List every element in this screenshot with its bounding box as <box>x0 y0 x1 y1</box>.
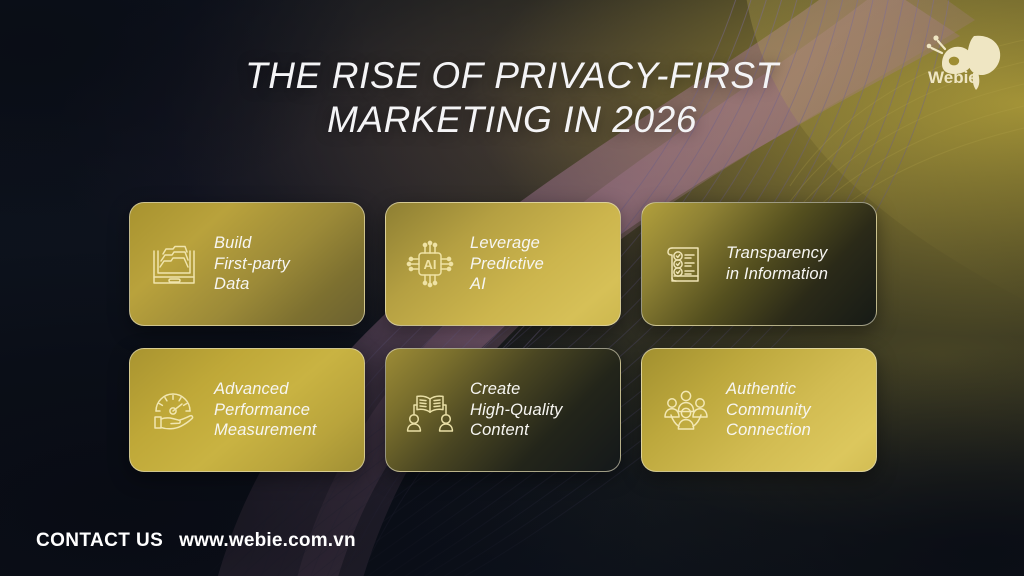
page-title: THE RISE OF PRIVACY-FIRST MARKETING IN 2… <box>0 54 1024 141</box>
card-line: Data <box>214 274 290 295</box>
feature-card-label: Advanced Performance Measurement <box>214 379 317 442</box>
feature-card-create-high-quality-content[interactable]: Create High-Quality Content <box>385 348 621 472</box>
people-group-icon <box>656 379 716 441</box>
feature-card-advanced-performance-measurement[interactable]: Advanced Performance Measurement <box>129 348 365 472</box>
feature-card-label: Authentic Community Connection <box>726 379 811 442</box>
svg-text:AI: AI <box>424 257 437 272</box>
feature-card-leverage-predictive-ai[interactable]: AI <box>385 202 621 326</box>
slide-canvas: Webie THE RISE OF PRIVACY-FIRST MARKETIN… <box>0 0 1024 576</box>
gauge-hand-icon <box>144 379 204 441</box>
card-line: AI <box>470 274 544 295</box>
card-line: Create <box>470 379 563 400</box>
file-drawer-icon <box>144 233 204 295</box>
card-line: First-party <box>214 254 290 275</box>
card-line: Community <box>726 400 811 421</box>
card-line: Predictive <box>470 254 544 275</box>
feature-card-transparency-in-information[interactable]: Transparency in Information <box>641 202 877 326</box>
book-people-icon <box>400 379 460 441</box>
card-line: Content <box>470 420 563 441</box>
contact-us-label: CONTACT US <box>36 530 163 552</box>
checklist-scroll-icon <box>656 233 716 295</box>
card-line: Transparency <box>726 243 828 264</box>
card-line: Connection <box>726 420 811 441</box>
card-line: Measurement <box>214 420 317 441</box>
card-line: High-Quality <box>470 400 563 421</box>
ai-chip-icon: AI <box>400 233 460 295</box>
feature-card-label: Transparency in Information <box>726 243 828 285</box>
website-url[interactable]: www.webie.com.vn <box>179 530 356 552</box>
feature-card-build-first-party-data[interactable]: Build First-party Data <box>129 202 365 326</box>
feature-card-label: Build First-party Data <box>214 233 290 296</box>
card-line: Authentic <box>726 379 811 400</box>
feature-card-grid: Build First-party Data AI <box>129 202 885 472</box>
card-line: Advanced <box>214 379 317 400</box>
title-line-1: THE RISE OF PRIVACY-FIRST <box>150 54 874 98</box>
card-line: Performance <box>214 400 317 421</box>
feature-card-label: Create High-Quality Content <box>470 379 563 442</box>
title-line-2: MARKETING IN 2026 <box>150 98 874 142</box>
feature-card-authentic-community-connection[interactable]: Authentic Community Connection <box>641 348 877 472</box>
card-line: Leverage <box>470 233 544 254</box>
card-line: in Information <box>726 264 828 285</box>
card-line: Build <box>214 233 290 254</box>
footer-contact: CONTACT US www.webie.com.vn <box>36 530 356 552</box>
feature-card-label: Leverage Predictive AI <box>470 233 544 296</box>
